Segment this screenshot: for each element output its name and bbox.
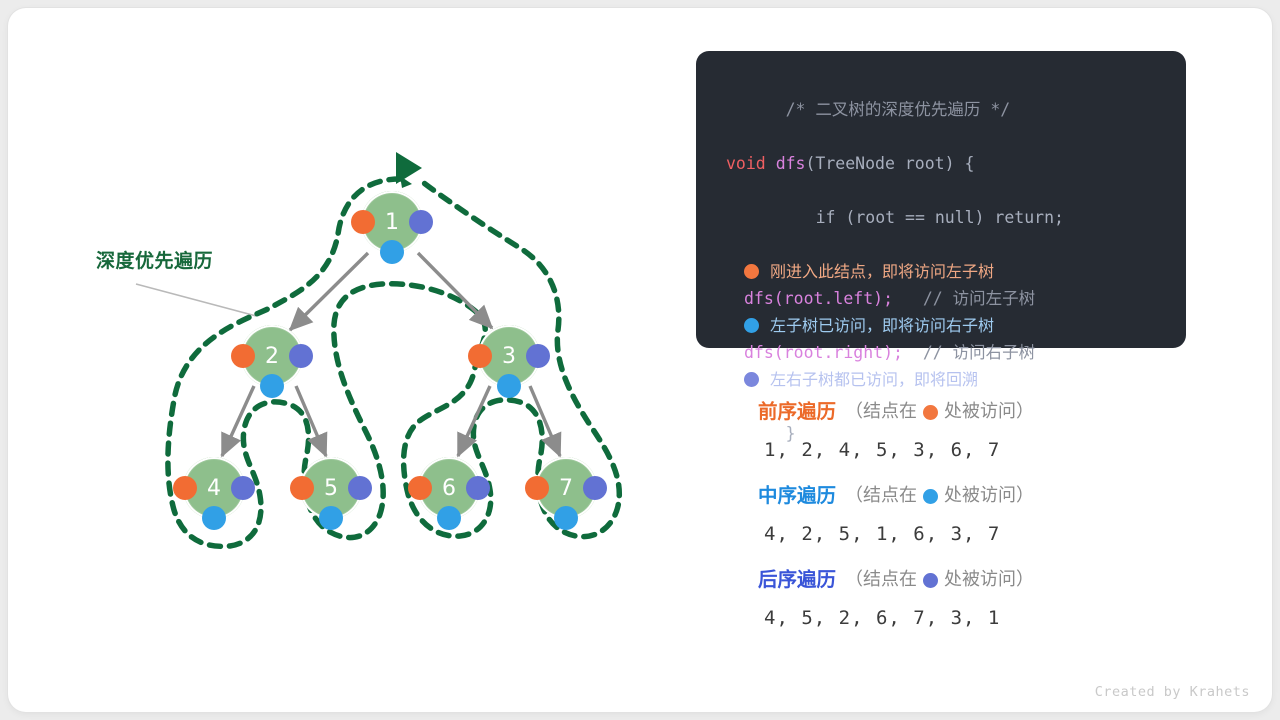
callout-line [136,284,256,316]
order-sequence-in: 4, 2, 5, 1, 6, 3, 7 [758,515,1218,553]
inorder-dot-icon [744,318,759,333]
order-paren-open-pre: （结点在 [845,393,917,431]
node-3-label: 3 [478,325,540,387]
node-1-label: 1 [361,191,423,253]
node-6-label: 6 [418,457,480,519]
postorder-dot-icon [744,372,759,387]
code-line-comment: /* 二叉树的深度优先遍历 */ [696,69,1186,150]
dfs-label: 深度优先遍历 [96,246,213,273]
annotation-postorder-text: 左右子树都已访问，即将回溯 [770,366,978,393]
binary-tree-diagram: 深度优先遍历 1234567 [8,8,688,712]
annotation-inorder: 左子树已访问，即将访问右子树 [696,312,1186,339]
annotation-postorder: 左右子树都已访问，即将回溯 [696,366,1186,393]
order-paren-close-post: 处被访问） [944,561,1034,599]
code-space-1 [766,154,776,173]
order-sequence-post: 4, 5, 2, 6, 7, 3, 1 [758,599,1218,637]
node-2-label: 2 [241,325,303,387]
code-fn-dfs: dfs [776,154,806,173]
order-paren-close-in: 处被访问） [944,477,1034,515]
code-line-guard: if (root == null) return; [696,177,1186,258]
order-dot-icon-in [923,489,938,504]
order-name-pre: 前序遍历 [758,393,836,431]
node-7-label: 7 [535,457,597,519]
order-paren-close-pre: 处被访问） [944,393,1034,431]
order-dot-icon-post [923,573,938,588]
code-space-2 [893,289,923,308]
node-4-label: 4 [183,457,245,519]
code-guard-text: if (root == null) return; [816,208,1064,227]
edge-3-7 [530,386,560,456]
order-heading-post: 后序遍历（结点在处被访问） [758,561,1218,599]
annotation-preorder-text: 刚进入此结点，即将访问左子树 [770,258,994,285]
code-line-call-right: dfs(root.right); // 访问右子树 [696,339,1186,366]
edge-2-5 [296,386,326,456]
node-5-label: 5 [300,457,362,519]
credit-watermark: Created by Krahets [1095,684,1250,700]
code-comment-text: /* 二叉树的深度优先遍历 */ [786,100,1011,119]
code-panel: /* 二叉树的深度优先遍历 */ void dfs(TreeNode root)… [696,51,1186,348]
code-call-left-comment: // 访问左子树 [923,289,1035,308]
annotation-inorder-text: 左子树已访问，即将访问右子树 [770,312,994,339]
order-heading-in: 中序遍历（结点在处被访问） [758,477,1218,515]
edge-1-3 [418,253,492,328]
annotation-preorder: 刚进入此结点，即将访问左子树 [696,258,1186,285]
order-paren-open-in: （结点在 [845,477,917,515]
order-name-in: 中序遍历 [758,477,836,515]
order-dot-icon-pre [923,405,938,420]
code-signature-args: (TreeNode root) { [806,154,975,173]
order-heading-pre: 前序遍历（结点在处被访问） [758,393,1218,431]
order-sequence-pre: 1, 2, 4, 5, 3, 6, 7 [758,431,1218,469]
code-line-call-left: dfs(root.left); // 访问左子树 [696,285,1186,312]
tree-graphics [8,8,688,712]
order-name-post: 后序遍历 [758,561,836,599]
code-space-3 [903,343,923,362]
traversal-orders: 前序遍历（结点在处被访问）1, 2, 4, 5, 3, 6, 7中序遍历（结点在… [758,393,1218,645]
order-paren-open-post: （结点在 [845,561,917,599]
play-arrow-icon [396,152,422,184]
preorder-dot-icon [744,264,759,279]
code-call-right-comment: // 访问右子树 [923,343,1035,362]
code-call-left: dfs(root.left); [744,289,893,308]
code-call-right: dfs(root.right); [744,343,903,362]
code-line-signature: void dfs(TreeNode root) { [696,150,1186,177]
code-keyword-void: void [726,154,766,173]
figure-card: 深度优先遍历 1234567 /* 二叉树的深度优先遍历 */ void dfs… [8,8,1272,712]
